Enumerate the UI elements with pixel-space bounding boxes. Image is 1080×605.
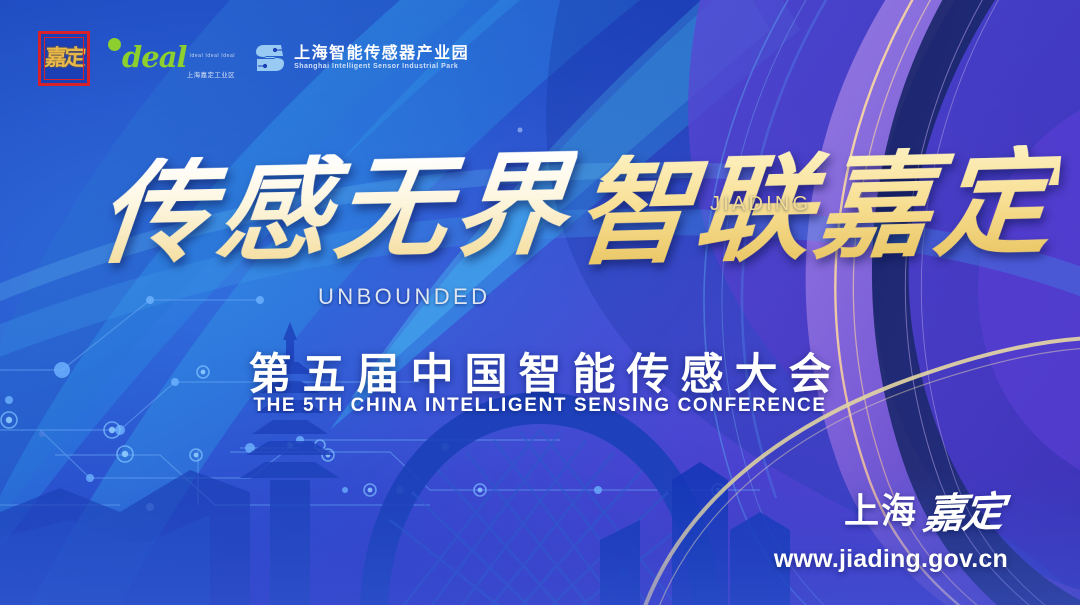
conference-banner: 嘉定 deal Ideal Ideal Ideal 上海嘉定工业区 <box>0 0 1080 605</box>
sensor-park-logo: 上海智能传感器产业园 Shanghai Intelligent Sensor I… <box>253 29 469 87</box>
logo-bar: 嘉定 deal Ideal Ideal Ideal 上海嘉定工业区 <box>38 28 469 88</box>
sensor-park-mark-icon <box>253 42 287 74</box>
ideal-tagline: Ideal Ideal Ideal <box>190 53 236 59</box>
subtitle-en: THE 5TH CHINA INTELLIGENT SENSING CONFER… <box>0 395 1080 417</box>
seal-glyph: 嘉定 <box>44 47 84 69</box>
subtitle-cn: 第五届中国智能传感大会 <box>0 340 1080 402</box>
seal-logo: 嘉定 <box>38 29 90 87</box>
headline-right-en: JIADING <box>710 193 811 216</box>
footer-brand: 上海 嘉定 <box>844 492 1002 530</box>
ideal-dot-icon <box>108 38 121 51</box>
sensor-park-name-en: Shanghai Intelligent Sensor Industrial P… <box>294 63 469 70</box>
headline-left-en: UNBOUNDED <box>318 284 490 310</box>
ideal-logo: deal Ideal Ideal Ideal 上海嘉定工业区 <box>108 29 235 87</box>
footer-city-calligraphy: 嘉定 <box>921 494 1004 534</box>
footer-city: 上海 <box>844 495 918 530</box>
ideal-wordmark: deal <box>122 45 187 69</box>
sensor-park-name-cn: 上海智能传感器产业园 <box>294 46 469 62</box>
seal-frame: 嘉定 <box>38 31 90 86</box>
footer-url[interactable]: www.jiading.gov.cn <box>774 545 1008 574</box>
